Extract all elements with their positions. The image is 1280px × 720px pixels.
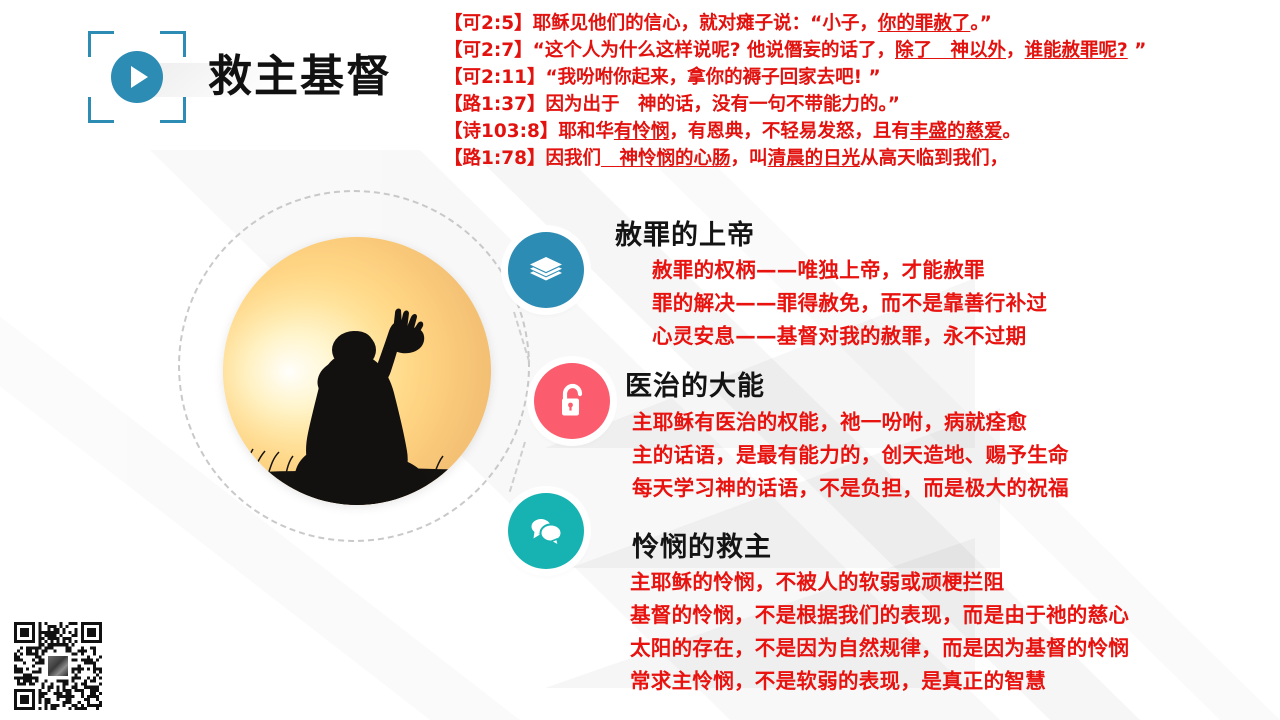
scripture-text: 耶稣见他们的信心，就对瘫子说：“小子， — [533, 13, 878, 34]
scripture-reference: 【诗103:8】 — [444, 121, 558, 142]
scripture-line: 【诗103:8】耶和华有怜悯，有恩典，不轻易发怒，且有丰盛的慈爱。 — [444, 118, 1274, 145]
section-body-1: 赦罪的权柄——唯独上帝，才能赦罪罪的解决——罪得赦免，而不是靠善行补过心灵安息—… — [652, 254, 1047, 353]
section-body-line: 主的话语，是最有能力的，创天造地、赐予生命 — [632, 439, 1069, 472]
scripture-text: “我吩咐你起来，拿你的褥子回家去吧! ” — [546, 67, 881, 88]
section-title-2: 医治的大能 — [625, 364, 765, 403]
chat-bubbles-icon — [508, 493, 584, 569]
qr-code — [14, 622, 102, 710]
qr-center-logo — [46, 654, 70, 678]
scripture-text: 因为出于 神的话，没有一句不带能力的。” — [546, 94, 900, 115]
section-body-line: 每天学习神的话语，不是负担，而是极大的祝福 — [632, 472, 1069, 505]
unlock-padlock-icon — [534, 363, 610, 439]
scripture-reference: 【路1:37】 — [444, 94, 546, 115]
scripture-text: 。” — [970, 13, 991, 34]
scripture-emphasis: 丰盛的慈爱 — [910, 121, 1003, 142]
section-body-line: 罪的解决——罪得赦免，而不是靠善行补过 — [652, 287, 1047, 320]
scripture-emphasis: 清晨的日光 — [768, 148, 861, 169]
scripture-reference: 【可2:5】 — [444, 13, 533, 34]
scripture-text: “这个人为什么这样说呢? 他说僭妄的话了， — [533, 40, 895, 61]
play-button-icon — [111, 51, 163, 103]
scripture-line: 【路1:37】因为出于 神的话，没有一句不带能力的。” — [444, 91, 1274, 118]
scripture-line: 【可2:7】“这个人为什么这样说呢? 他说僭妄的话了，除了 神以外，谁能赦罪呢?… — [444, 37, 1274, 64]
section-body-line: 太阳的存在，不是因为自然规律，而是因为基督的怜悯 — [630, 632, 1129, 665]
scripture-emphasis: 神怜悯的心肠 — [601, 148, 731, 169]
scripture-line: 【路1:78】因我们 神怜悯的心肠，叫清晨的日光从高天临到我们， — [444, 145, 1274, 172]
scripture-text: ，叫 — [731, 148, 768, 169]
scripture-line: 【可2:5】耶稣见他们的信心，就对瘫子说：“小子，你的罪赦了。” — [444, 10, 1274, 37]
scripture-text: 从高天临到我们， — [860, 148, 1008, 169]
scripture-text: 因我们 — [546, 148, 602, 169]
scripture-text: 。 — [1002, 121, 1021, 142]
scripture-emphasis: 你的罪赦了 — [878, 13, 971, 34]
section-title-3: 怜悯的救主 — [632, 525, 772, 564]
layers-stack-icon — [508, 232, 584, 308]
section-body-2: 主耶稣有医治的权能，祂一吩咐，病就痊愈主的话语，是最有能力的，创天造地、赐予生命… — [632, 406, 1069, 505]
slide-canvas: 救主基督 【可2:5】耶稣见他们的信心，就对瘫子说：“小子，你的罪赦了。”【可2… — [0, 0, 1280, 720]
section-body-line: 主耶稣有医治的权能，祂一吩咐，病就痊愈 — [632, 406, 1069, 439]
scripture-emphasis: 谁能赦罪呢? — [1025, 40, 1128, 61]
page-title: 救主基督 — [208, 55, 392, 99]
section-body-line: 心灵安息——基督对我的赦罪，永不过期 — [652, 320, 1047, 353]
section-title-1: 赦罪的上帝 — [615, 213, 755, 252]
scripture-emphasis: 除了 神以外 — [895, 40, 1006, 61]
scripture-block: 【可2:5】耶稣见他们的信心，就对瘫子说：“小子，你的罪赦了。”【可2:7】“这… — [444, 10, 1274, 172]
scripture-text: 耶和华 — [558, 121, 614, 142]
scripture-reference: 【可2:11】 — [444, 67, 546, 88]
brand-logo-block: 救主基督 — [88, 22, 418, 132]
scripture-line: 【可2:11】“我吩咐你起来，拿你的褥子回家去吧! ” — [444, 64, 1274, 91]
scripture-text: ，有恩典，不轻易发怒，且有 — [669, 121, 910, 142]
section-body-line: 基督的怜悯，不是根据我们的表现，而是由于祂的慈心 — [630, 599, 1129, 632]
section-body-line: 赦罪的权柄——唯独上帝，才能赦罪 — [652, 254, 1047, 287]
scripture-text: ， — [1006, 40, 1025, 61]
section-body-line: 常求主怜悯，不是软弱的表现，是真正的智慧 — [630, 665, 1129, 698]
sunset-silhouette-photo — [223, 237, 491, 505]
scripture-emphasis: 有怜悯 — [614, 121, 670, 142]
scripture-reference: 【可2:7】 — [444, 40, 533, 61]
section-body-line: 主耶稣的怜悯，不被人的软弱或顽梗拦阻 — [630, 566, 1129, 599]
section-body-3: 主耶稣的怜悯，不被人的软弱或顽梗拦阻基督的怜悯，不是根据我们的表现，而是由于祂的… — [630, 566, 1129, 698]
photo-illustration — [180, 192, 530, 542]
scripture-reference: 【路1:78】 — [444, 148, 546, 169]
scripture-text: ” — [1128, 40, 1147, 61]
square-bracket-frame-icon — [88, 31, 186, 123]
